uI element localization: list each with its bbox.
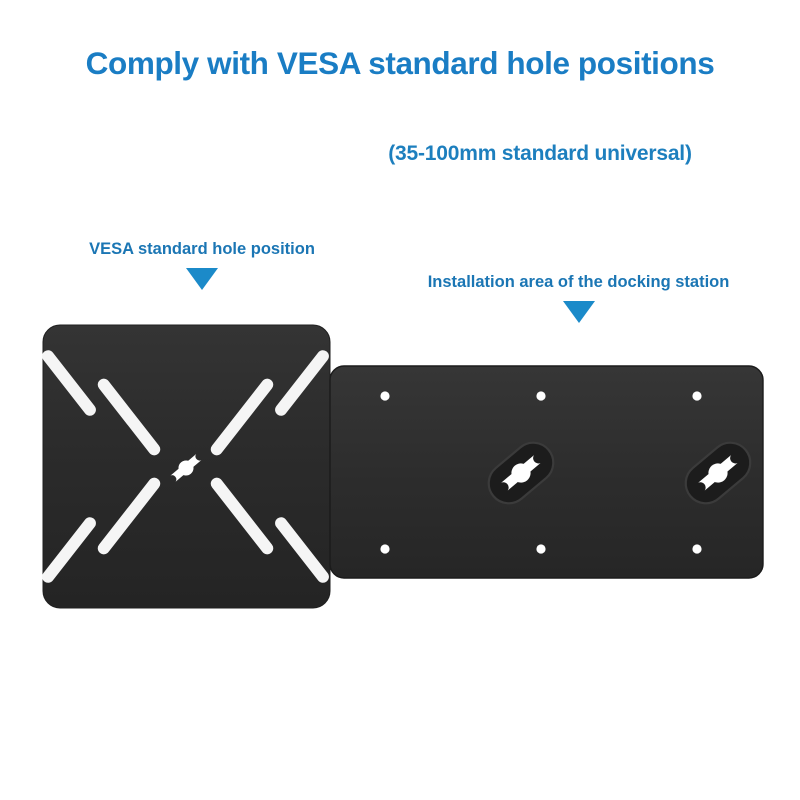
infographic-canvas: Comply with VESA standard hole positions… bbox=[0, 0, 800, 800]
docking-round-hole bbox=[536, 544, 545, 553]
vesa-mount-bracket-diagram bbox=[0, 0, 800, 800]
vesa-square-plate bbox=[40, 325, 332, 608]
docking-round-hole bbox=[692, 544, 701, 553]
docking-rectangular-plate bbox=[330, 366, 763, 578]
docking-round-hole bbox=[380, 391, 389, 400]
docking-round-hole bbox=[692, 391, 701, 400]
docking-round-hole bbox=[380, 544, 389, 553]
docking-round-hole bbox=[536, 391, 545, 400]
